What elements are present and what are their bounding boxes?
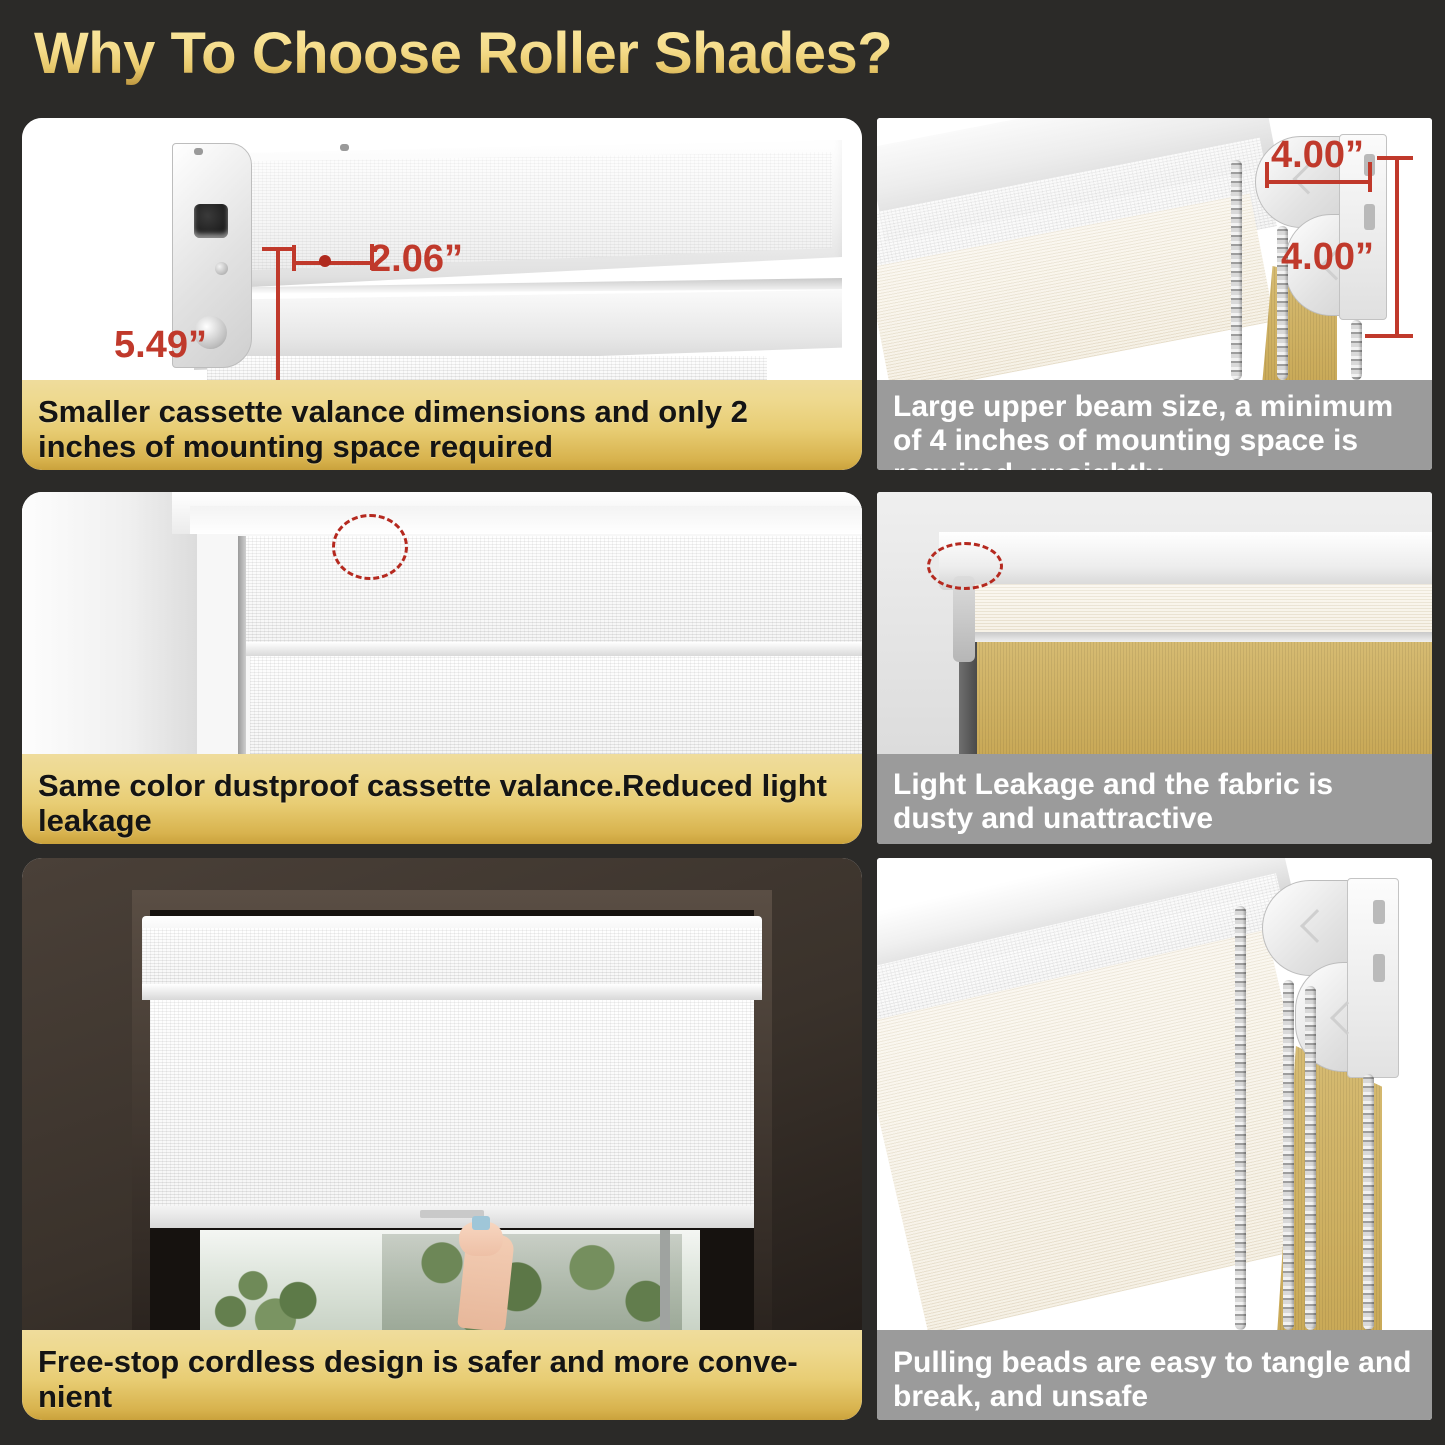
panel-dustproof-cassette-valance: smaller gap Same color dustproof cassett… bbox=[22, 492, 862, 844]
beam-height-tick-top bbox=[1377, 156, 1413, 160]
highlight-circle bbox=[332, 514, 408, 580]
shade-fabric bbox=[150, 1000, 754, 1210]
bead-chain-loop bbox=[1363, 1074, 1374, 1330]
panel-2-photo: 4.00” 4.00” bbox=[877, 118, 1432, 380]
bead-chain-front bbox=[1235, 906, 1246, 1330]
valance-lip bbox=[142, 984, 762, 1000]
beam-width-dim-line bbox=[1267, 180, 1372, 184]
infographic-root: Why To Choose Roller Shades? 2 bbox=[0, 0, 1445, 1445]
panel-large-upper-beam: 4.00” 4.00” Large upper beam size, a min… bbox=[877, 118, 1432, 470]
valance-face bbox=[142, 928, 762, 988]
khaki-shade-fabric bbox=[973, 642, 1432, 754]
bracket-slot-top bbox=[194, 204, 228, 238]
beam-height-tick-bottom bbox=[1365, 334, 1413, 338]
panel-6-caption: Pulling beads are easy to tangle and bre… bbox=[877, 1330, 1432, 1420]
panel-free-stop-cordless-design: Free-stop cordless design is safer and m… bbox=[22, 858, 862, 1420]
bead-chain-rear bbox=[1305, 986, 1316, 1330]
bracket-top-screw-right bbox=[340, 144, 349, 151]
bead-chain-front bbox=[1231, 160, 1242, 380]
window-frame-bevel bbox=[190, 506, 862, 534]
width-dim-line bbox=[294, 261, 374, 265]
bracket-slot-upper bbox=[1373, 900, 1385, 924]
headrail-white bbox=[939, 532, 1432, 590]
width-dim-dot bbox=[319, 255, 331, 267]
panel-2-caption: Large upper beam size, a minimum of 4 in… bbox=[877, 380, 1432, 470]
width-dimension-label: 2.06” bbox=[370, 238, 463, 281]
panel-3-photo: smaller gap bbox=[22, 492, 862, 754]
roller-shade-fabric bbox=[250, 656, 862, 754]
bead-chain-middle bbox=[1283, 980, 1294, 1330]
panel-5-photo bbox=[22, 858, 862, 1330]
bracket-screw-middle bbox=[215, 262, 228, 275]
panel-3-caption: Same color dustproof cassette valance.Re… bbox=[22, 754, 862, 844]
valance-side-gap bbox=[238, 536, 246, 754]
panel-pulling-beads-unsafe: Pulling beads are easy to tangle and bre… bbox=[877, 858, 1432, 1420]
valance-bottom-edge bbox=[244, 642, 862, 656]
panel-light-leakage-dusty-fabric: Large gap Light Leakage and the fabric i… bbox=[877, 492, 1432, 844]
window-frame-left bbox=[22, 492, 197, 754]
panel-1-photo: 2.06” 5.49” bbox=[22, 118, 862, 380]
shade-pull-tab bbox=[472, 1216, 490, 1230]
page-title: Why To Choose Roller Shades? bbox=[34, 20, 892, 87]
tree-foliage-left bbox=[208, 1256, 358, 1330]
cream-band bbox=[957, 584, 1432, 636]
bead-chain-rear bbox=[1351, 320, 1362, 380]
bracket-slot-lower bbox=[1364, 204, 1375, 230]
height-dim-tick-top bbox=[262, 247, 296, 251]
hanging-shade-fabric bbox=[207, 356, 767, 380]
beam-height-label: 4.00” bbox=[1281, 236, 1374, 279]
highlight-circle bbox=[927, 542, 1003, 590]
beam-height-dim-line bbox=[1395, 158, 1399, 338]
panel-6-photo bbox=[877, 858, 1432, 1330]
bracket-top-screw-left bbox=[194, 148, 203, 155]
panel-4-caption: Light Leakage and the fabric is dusty an… bbox=[877, 754, 1432, 844]
panel-cassette-valance-dimensions: 2.06” 5.49” Smaller cassette valance dim… bbox=[22, 118, 862, 470]
tree-foliage-right bbox=[382, 1234, 682, 1330]
beam-width-label: 4.00” bbox=[1271, 134, 1364, 177]
panel-1-caption: Smaller cassette valance dimensions and … bbox=[22, 380, 862, 470]
panel-5-caption: Free-stop cordless design is safer and m… bbox=[22, 1330, 862, 1420]
beam-width-tick-right bbox=[1368, 162, 1372, 192]
beam-width-tick-left bbox=[1265, 162, 1269, 188]
height-dim-line bbox=[276, 248, 280, 380]
height-dimension-label: 5.49” bbox=[114, 324, 207, 367]
headrail-shadow-line bbox=[957, 632, 1432, 642]
panel-4-photo: Large gap bbox=[877, 492, 1432, 754]
bracket-slot-lower bbox=[1373, 954, 1385, 982]
window-mullion bbox=[660, 1230, 670, 1330]
